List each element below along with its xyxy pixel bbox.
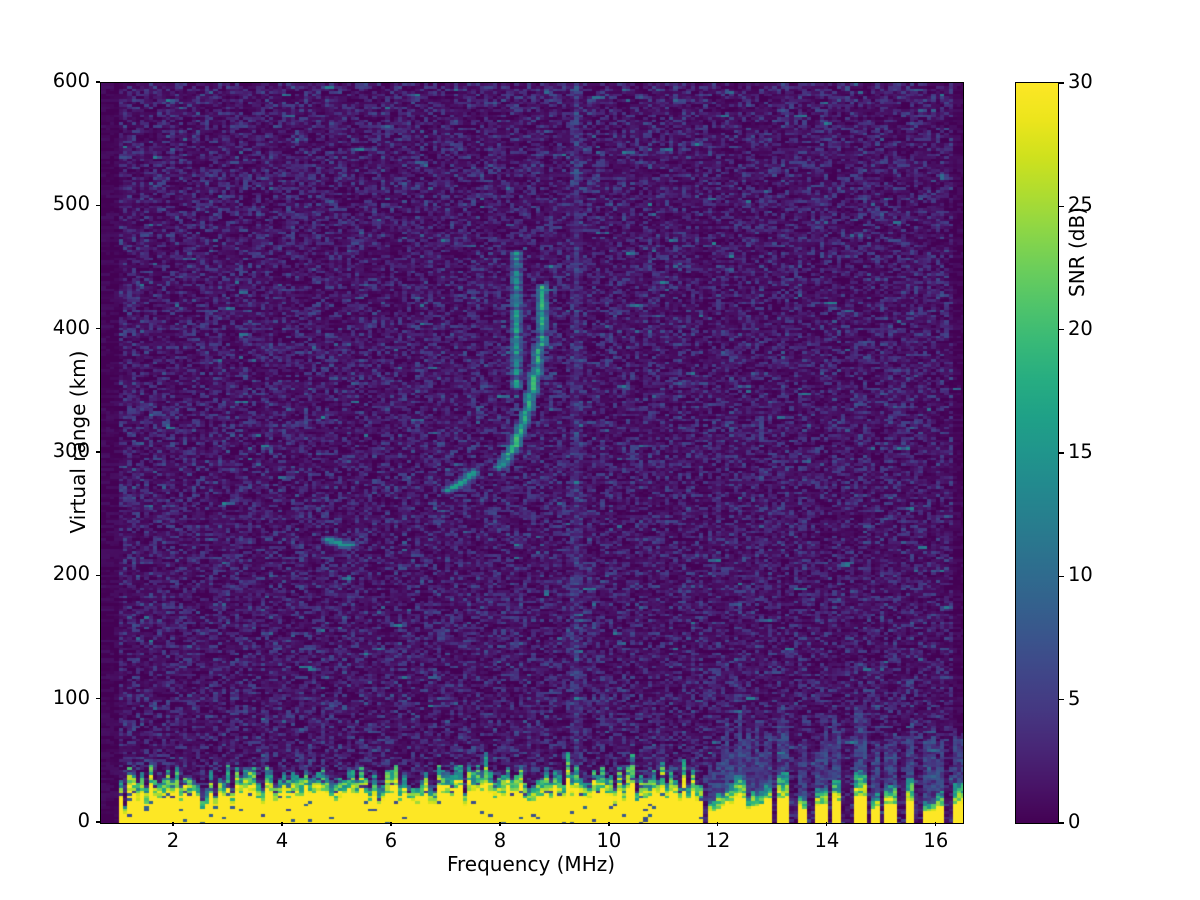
x-tick-label: 2 [133, 829, 213, 852]
y-tick-mark [96, 81, 100, 82]
colorbar-gradient [1015, 82, 1059, 824]
y-tick-mark [96, 328, 100, 329]
x-tick-mark [390, 822, 391, 826]
x-tick-mark [826, 822, 827, 826]
ionogram-plot-area [100, 82, 964, 824]
colorbar-tick-mark [1059, 82, 1064, 83]
colorbar-tick-mark [1059, 452, 1064, 453]
x-tick-label: 4 [242, 829, 322, 852]
colorbar-tick-mark [1059, 576, 1064, 577]
x-tick-label: 6 [351, 829, 431, 852]
x-tick-mark [499, 822, 500, 826]
colorbar-label: SNR (dB) [1065, 52, 1089, 452]
ionogram-heatmap [101, 83, 963, 823]
x-tick-label: 16 [896, 829, 976, 852]
y-tick-mark [96, 205, 100, 206]
colorbar [1015, 82, 1057, 822]
colorbar-tick-label: 5 [1068, 687, 1080, 710]
x-axis-label: Frequency (MHz) [100, 852, 962, 876]
colorbar-tick-mark [1059, 206, 1064, 207]
colorbar-tick-label: 10 [1068, 563, 1093, 586]
y-tick-mark [96, 698, 100, 699]
y-axis-label: Virtual range (km) [66, 72, 90, 812]
x-tick-label: 12 [678, 829, 758, 852]
x-tick-mark [172, 822, 173, 826]
y-tick-mark [96, 451, 100, 452]
colorbar-tick-mark [1059, 329, 1064, 330]
colorbar-tick-mark [1059, 699, 1064, 700]
ionogram-figure: IRF Kiruna Ionosonde KI167 2025-09-26 11… [0, 0, 1200, 900]
colorbar-tick-label: 0 [1068, 810, 1080, 833]
x-tick-mark [935, 822, 936, 826]
y-tick-mark [96, 575, 100, 576]
x-tick-mark [608, 822, 609, 826]
x-tick-mark [717, 822, 718, 826]
x-tick-label: 8 [460, 829, 540, 852]
x-tick-label: 14 [787, 829, 867, 852]
x-tick-label: 10 [569, 829, 649, 852]
colorbar-tick-mark [1059, 822, 1064, 823]
x-tick-mark [281, 822, 282, 826]
